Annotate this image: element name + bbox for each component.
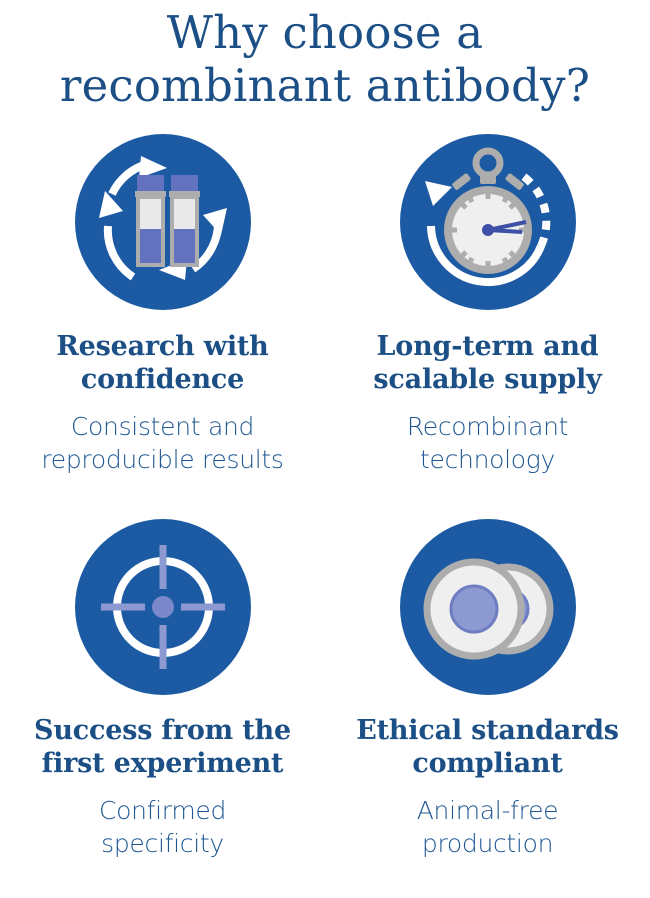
benefit-heading: Research with confidence [3, 330, 323, 396]
benefit-card-success-first-experiment: Success from the first experiment Confir… [0, 513, 325, 898]
benefit-heading-line-1: Long-term and [328, 330, 648, 363]
benefit-subtext: Consistent and reproducible results [2, 410, 324, 476]
benefit-heading-line-1: Success from the [3, 714, 323, 747]
benefit-card-research-with-confidence: Research with confidence Consistent and … [0, 128, 325, 513]
page-title-line-1: Why choose a [0, 6, 650, 59]
benefit-heading: Long-term and scalable supply [328, 330, 648, 396]
benefit-subtext-line-1: Consistent and [2, 410, 324, 443]
benefit-subtext-line-1: Recombinant [327, 410, 649, 443]
benefit-heading-line-2: confidence [3, 363, 323, 396]
benefit-subtext-line-1: Confirmed [2, 794, 324, 827]
benefit-subtext: Confirmed specificity [2, 794, 324, 860]
benefit-subtext-line-2: technology [327, 443, 649, 476]
benefit-subtext-line-2: specificity [2, 827, 324, 860]
benefits-grid: Research with confidence Consistent and … [0, 128, 650, 898]
infographic-root: Why choose a recombinant antibody? [0, 0, 650, 889]
page-title-line-2: recombinant antibody? [0, 59, 650, 112]
benefit-heading: Ethical standards compliant [328, 714, 648, 780]
page-title: Why choose a recombinant antibody? [0, 0, 650, 112]
benefit-subtext-line-2: reproducible results [2, 443, 324, 476]
benefit-card-long-term-supply: Long-term and scalable supply Recombinan… [325, 128, 650, 513]
benefit-heading-line-1: Research with [3, 330, 323, 363]
benefit-heading-line-2: compliant [328, 747, 648, 780]
benefit-card-ethical-standards: Ethical standards compliant Animal-free … [325, 513, 650, 898]
vials-recycle-icon [75, 134, 251, 310]
benefit-heading-line-2: first experiment [3, 747, 323, 780]
benefit-heading: Success from the first experiment [3, 714, 323, 780]
benefit-heading-line-2: scalable supply [328, 363, 648, 396]
benefit-subtext-line-1: Animal-free [327, 794, 649, 827]
stopwatch-icon [400, 134, 576, 310]
benefit-subtext-line-2: production [327, 827, 649, 860]
benefit-subtext: Animal-free production [327, 794, 649, 860]
benefit-subtext: Recombinant technology [327, 410, 649, 476]
benefit-heading-line-1: Ethical standards [328, 714, 648, 747]
two-cells-icon [400, 519, 576, 695]
crosshair-target-icon [75, 519, 251, 695]
